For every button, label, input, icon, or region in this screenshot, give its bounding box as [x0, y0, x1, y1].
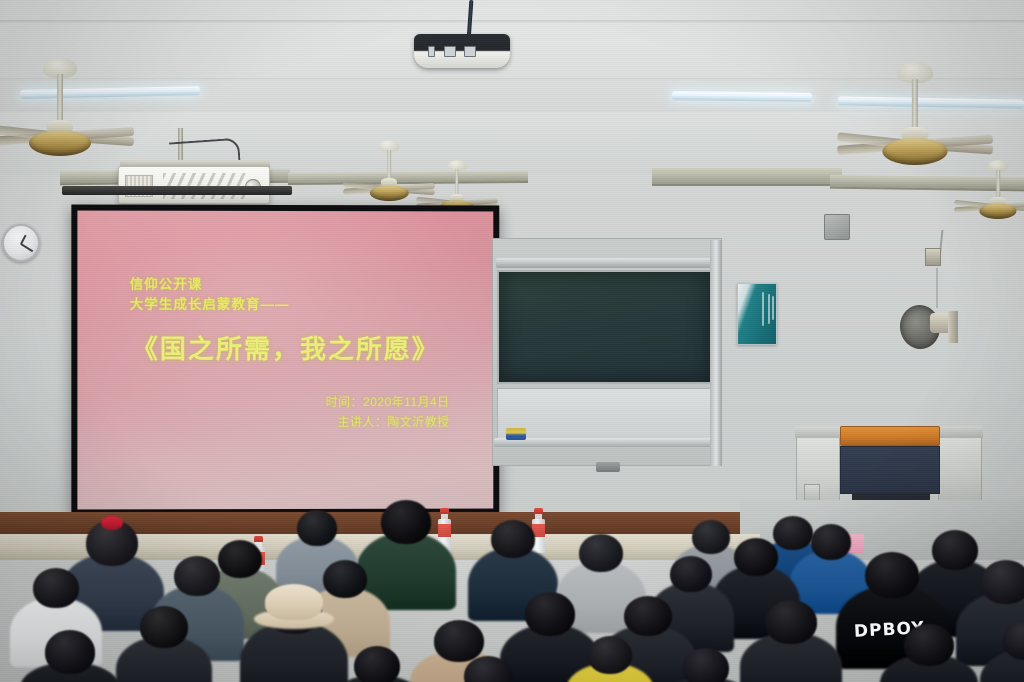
fluorescent-tube-light [672, 91, 812, 102]
chalkboard-top-rail [496, 258, 718, 268]
fan-downrod [387, 150, 391, 182]
audience-member-head [174, 556, 220, 596]
wall-fan-mount [925, 248, 941, 266]
ceiling-fan-right [852, 62, 978, 178]
fan-motor-housing [979, 203, 1016, 219]
ceiling-mounted-projector-icon [414, 34, 510, 68]
slide-subtitle-line-2: 大学生成长启蒙教育—— [130, 293, 290, 313]
audience-member [566, 636, 654, 682]
chalkboard-lower-panel [497, 388, 712, 440]
slide-date: 时间：2020年11月4日 [326, 393, 450, 410]
lectern-desktop [840, 426, 940, 446]
oscillating-wall-fan [900, 303, 960, 353]
audience-member [880, 624, 978, 682]
audience: DPBOY [0, 470, 1024, 682]
clock-minute-hand [21, 243, 34, 252]
screen-top-rail [62, 186, 292, 195]
audience-member-head [865, 552, 919, 598]
audience-member [740, 600, 842, 682]
teal-wall-poster [737, 283, 777, 345]
fan-downrod [57, 74, 63, 126]
slide-subtitle-line-1: 信仰公开课 [130, 273, 203, 293]
fan-downrod [912, 79, 918, 134]
audience-member [660, 648, 752, 682]
audience-member-head [683, 648, 729, 682]
audience-member-head [381, 500, 431, 544]
audience-member-head [45, 630, 95, 674]
chalkboard [497, 270, 712, 384]
wall-mounted-projector [118, 166, 270, 204]
slide-main-title: 《国之所需，我之所愿》 [77, 329, 493, 366]
audience-member-head [734, 538, 778, 576]
audience-member [116, 606, 212, 682]
audience-member-head [140, 606, 188, 648]
projection-screen-frame: 信仰公开课 大学生成长启蒙教育—— 《国之所需，我之所愿》 时间：2020年11… [71, 205, 499, 516]
audience-member-head [297, 510, 337, 546]
ceiling-fan-center-left [352, 140, 426, 208]
lecture-hall-photo: 信仰公开课 大学生成长启蒙教育—— 《国之所需，我之所愿》 时间：2020年11… [0, 0, 1024, 682]
fan-downrod [996, 170, 1000, 201]
audience-member-head [525, 592, 575, 636]
audience-member-head [464, 656, 512, 682]
audience-member-head [579, 534, 623, 572]
ceiling-fan-left [0, 58, 120, 168]
wall-speaker-box [824, 214, 850, 240]
analog-wall-clock [2, 224, 40, 262]
audience-member [330, 646, 424, 682]
wall-valance [652, 168, 842, 186]
fan-bracket [948, 311, 958, 343]
fan-downrod [455, 169, 458, 198]
ceiling-fan-far-right [962, 160, 1024, 226]
audience-member-head [765, 600, 817, 644]
hair-scrunchie [101, 516, 124, 530]
projection-screen: 信仰公开课 大学生成长启蒙教育—— 《国之所需，我之所愿》 时间：2020年11… [77, 211, 493, 510]
audience-member-head [354, 646, 400, 682]
bucket-hat [265, 584, 323, 620]
fan-motor-housing [882, 138, 947, 165]
fan-motor-housing [29, 130, 91, 156]
wall-fan-wire [936, 268, 938, 308]
audience-member [440, 656, 536, 682]
audience-member-head [981, 560, 1024, 604]
audience-member-head [904, 624, 954, 666]
lectern-wing-top [795, 426, 841, 438]
fan-motor-housing [370, 185, 408, 201]
audience-member-head [588, 636, 632, 674]
audience-member-head [491, 520, 535, 558]
audience-member [20, 630, 120, 682]
audience-member-head [670, 556, 712, 592]
chalkboard-slide-rail [710, 240, 722, 466]
audience-member [980, 620, 1024, 682]
chalk-eraser [506, 428, 526, 440]
audience-member-head [33, 568, 79, 608]
audience-member-head [624, 596, 672, 636]
chalk-tray [494, 438, 716, 447]
ceiling-seam [0, 20, 1024, 23]
lectern-wing-top [937, 426, 983, 438]
slide-speaker: 主讲人：陶文沂教授 [337, 413, 449, 430]
